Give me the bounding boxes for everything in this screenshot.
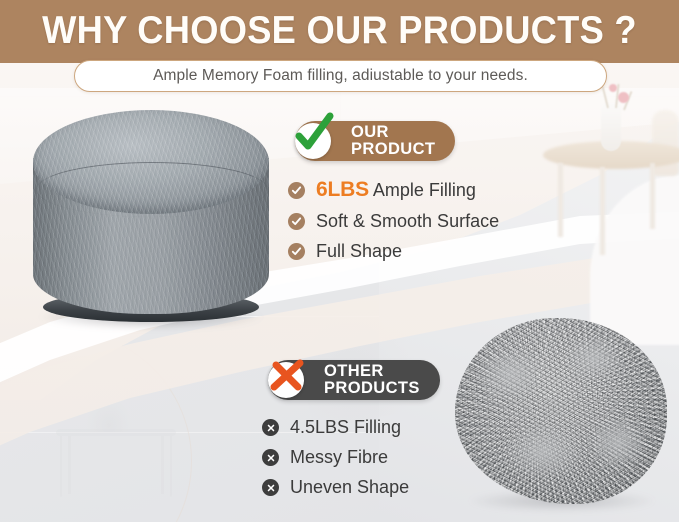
other-product-image <box>455 318 667 514</box>
check-circle-icon <box>288 243 305 260</box>
list-item: Soft & Smooth Surface <box>288 211 499 232</box>
list-item: 6LBS Ample Filling <box>288 178 499 202</box>
decor-flower <box>609 84 617 92</box>
feature-label: Full Shape <box>316 241 402 262</box>
list-item: Full Shape <box>288 241 499 262</box>
feature-label: Uneven Shape <box>290 477 409 498</box>
our-product-image <box>33 110 269 328</box>
x-circle-icon <box>262 479 279 496</box>
feature-label: Messy Fibre <box>290 447 388 468</box>
list-item: Messy Fibre <box>262 447 409 468</box>
other-products-badge-line2: PRODUCTS <box>324 380 420 397</box>
our-product-feature-list: 6LBS Ample Filling Soft & Smooth Surface… <box>288 178 499 271</box>
our-product-badge-line2: PRODUCT <box>351 141 435 158</box>
feature-label: Soft & Smooth Surface <box>316 211 499 232</box>
comparison-infographic: WHY CHOOSE OUR PRODUCTS ? Ample Memory F… <box>0 0 679 522</box>
decor-vase <box>601 103 621 151</box>
decor-side-table-silhouette <box>60 430 172 498</box>
list-item: 4.5LBS Filling <box>262 417 409 438</box>
check-circle-icon <box>288 213 305 230</box>
page-title: WHY CHOOSE OUR PRODUCTS ? <box>24 9 655 53</box>
feature-text: 6LBS Ample Filling <box>316 178 476 202</box>
subtitle-pill: Ample Memory Foam filling, adiustable to… <box>74 60 607 92</box>
green-check-icon <box>295 123 331 159</box>
feature-highlight: 6LBS <box>316 178 369 201</box>
other-products-badge: OTHER PRODUCTS <box>268 360 440 400</box>
check-circle-icon <box>288 182 305 199</box>
other-products-feature-list: 4.5LBS Filling Messy Fibre Uneven Shape <box>262 417 409 507</box>
orange-x-icon <box>268 362 304 398</box>
x-circle-icon <box>262 419 279 436</box>
our-product-badge: OUR PRODUCT <box>295 121 455 161</box>
our-product-badge-line1: OUR <box>351 124 435 141</box>
other-products-badge-line1: OTHER <box>324 363 420 380</box>
x-circle-icon <box>262 449 279 466</box>
feature-label: 4.5LBS Filling <box>290 417 401 438</box>
feature-label: Ample Filling <box>369 180 476 200</box>
header-bar: WHY CHOOSE OUR PRODUCTS ? <box>0 0 679 63</box>
decor-flower <box>618 92 629 103</box>
subtitle-text: Ample Memory Foam filling, adiustable to… <box>153 67 528 85</box>
list-item: Uneven Shape <box>262 477 409 498</box>
